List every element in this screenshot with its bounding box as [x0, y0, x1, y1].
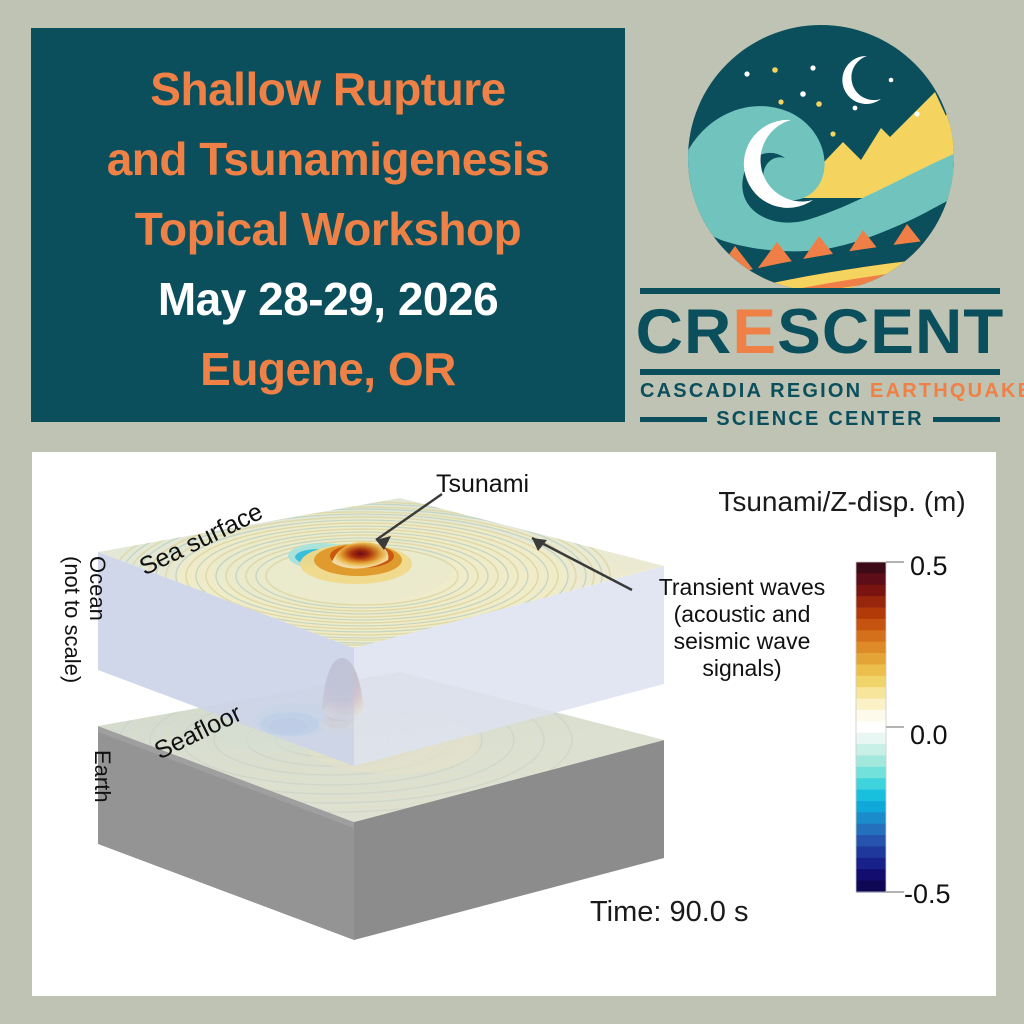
annotation-transient-waves: Transient waves (acoustic and seismic wa…: [642, 574, 842, 682]
colorbar-tick-low: -0.5: [904, 879, 951, 910]
transient-line-3: seismic wave: [642, 628, 842, 655]
wordmark-subtitle-2-row: SCIENCE CENTER: [640, 408, 1000, 431]
transient-line-2: (acoustic and: [642, 601, 842, 628]
wordmark-sub1-pre: CASCADIA REGION: [640, 380, 870, 402]
colorbar-tick-high: 0.5: [910, 551, 948, 582]
title-line-3: Topical Workshop: [135, 194, 521, 264]
wordmark-crescent-post: SCENT: [777, 297, 1004, 367]
tsunami-3d-block-diagram: [32, 452, 996, 996]
annotation-tsunami: Tsunami: [436, 470, 529, 499]
wordmark-subtitle-2: SCIENCE CENTER: [716, 408, 924, 431]
time-label: Time: 90.0 s: [590, 896, 748, 929]
wordmark-crescent-highlight: E: [732, 297, 777, 367]
title-line-2: and Tsunamigenesis: [107, 124, 550, 194]
crescent-emblem-icon: [685, 22, 957, 294]
colorbar-tick-mid: 0.0: [910, 720, 948, 751]
wordmark-crescent: CRESCENT: [633, 299, 1007, 365]
wordmark-subtitle-1: CASCADIA REGION EARTHQUAKE: [640, 380, 1000, 403]
figure-inner: Tsunami/Z-disp. (m) 0.5 0.0 -0.5 Tsunami…: [32, 452, 996, 996]
label-ocean-line-2: (not to scale): [60, 556, 85, 683]
wordmark-sub1-highlight: EARTHQUAKE: [870, 380, 1024, 402]
title-location: Eugene, OR: [200, 334, 456, 404]
poster-root: Shallow Rupture and Tsunamigenesis Topic…: [0, 0, 1024, 1024]
wordmark-left-dash: [640, 417, 707, 422]
label-ocean-line-1: Ocean: [85, 556, 110, 683]
wordmark-crescent-pre: CR: [636, 297, 733, 367]
crescent-wordmark: CRESCENT CASCADIA REGION EARTHQUAKE SCIE…: [640, 288, 1000, 424]
transient-line-1: Transient waves: [642, 574, 842, 601]
transient-line-4: signals): [642, 655, 842, 682]
colorbar: [856, 562, 904, 893]
wordmark-top-rule: [640, 288, 1000, 294]
title-line-1: Shallow Rupture: [150, 54, 505, 124]
title-card: Shallow Rupture and Tsunamigenesis Topic…: [31, 28, 625, 422]
colorbar-ticks: [886, 562, 904, 892]
wordmark-right-dash: [933, 417, 1000, 422]
title-date: May 28-29, 2026: [158, 264, 498, 334]
figure-panel: Tsunami/Z-disp. (m) 0.5 0.0 -0.5 Tsunami…: [32, 452, 996, 996]
colorbar-title: Tsunami/Z-disp. (m): [692, 486, 992, 518]
label-earth: Earth: [89, 750, 115, 803]
wordmark-mid-rule: [640, 369, 1000, 375]
label-ocean: Ocean (not to scale): [60, 556, 110, 683]
